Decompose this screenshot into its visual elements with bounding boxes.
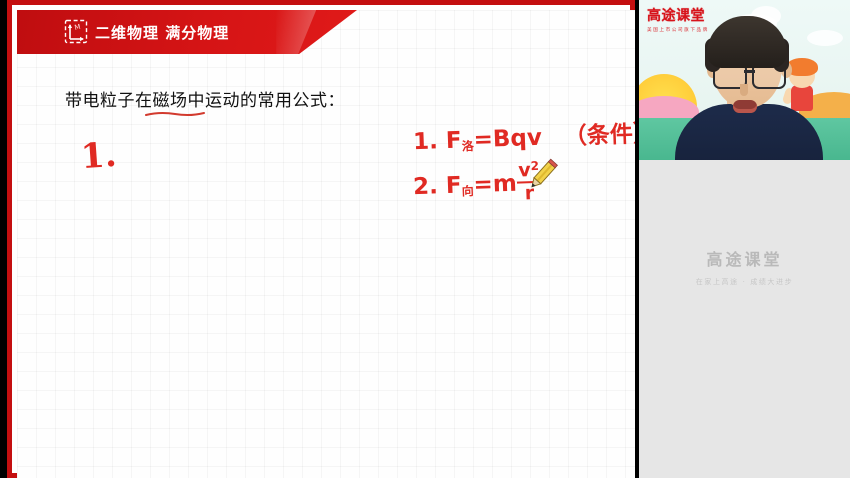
video-brand-subtitle: 美国上市公司旗下品牌 <box>647 27 709 33</box>
cloud-icon <box>807 30 843 46</box>
axes-rectangle-icon: M <box>64 19 88 44</box>
ink-line2-symbol: F <box>445 173 462 200</box>
ink-line1-symbol: F <box>445 128 462 155</box>
eyeglasses-bridge <box>744 70 755 73</box>
watermark-subtitle: 在家上高途 · 成绩大进步 <box>639 277 850 287</box>
presenter-nose <box>740 84 748 96</box>
pencil-cursor-icon[interactable] <box>521 156 561 196</box>
video-brand-title: 高途课堂 <box>647 5 709 25</box>
ink-line1-note: （条件） <box>563 121 635 150</box>
whiteboard-grid <box>17 10 635 478</box>
video-brand-logo: 高途课堂 美国上市公司旗下品牌 <box>647 5 709 33</box>
ink-line2-coefficient: m <box>492 171 517 198</box>
app-window: M 二维物理 满分物理 带电粒子在磁场中运动的常用公式： 1. 1. F洛=Bq… <box>0 0 850 478</box>
slide-heading: 带电粒子在磁场中运动的常用公式： <box>65 86 345 111</box>
video-sidebar: 高途课堂 美国上市公司旗下品牌 高途课堂 在家上高途 · 成绩大进步 <box>639 0 850 478</box>
ink-line2-subscript: 向 <box>462 184 474 198</box>
ink-left-marker: 1. <box>80 135 118 177</box>
presenter-video-tile[interactable]: 高途课堂 美国上市公司旗下品牌 <box>639 0 850 160</box>
presenter-mouth <box>733 100 757 113</box>
ink-line1-expression: Bqv <box>492 125 542 153</box>
mascot-body <box>791 85 813 111</box>
ink-line1-subscript: 洛 <box>462 139 474 153</box>
slide-panel: M 二维物理 满分物理 带电粒子在磁场中运动的常用公式： 1. 1. F洛=Bq… <box>7 0 635 478</box>
whiteboard-canvas[interactable]: M 二维物理 满分物理 带电粒子在磁场中运动的常用公式： 1. 1. F洛=Bq… <box>17 10 635 478</box>
ink-line2-index: 2. <box>413 173 439 200</box>
banner-title: 二维物理 满分物理 <box>95 22 229 43</box>
ink-line1-index: 1. <box>413 128 439 155</box>
svg-text:M: M <box>74 23 82 32</box>
watermark-title: 高途课堂 <box>639 246 850 270</box>
ink-line1-equals: = <box>473 126 493 153</box>
watermark: 高途课堂 在家上高途 · 成绩大进步 <box>639 246 850 287</box>
heading-underline <box>145 110 205 118</box>
slide-frame: M 二维物理 满分物理 带电粒子在磁场中运动的常用公式： 1. 1. F洛=Bq… <box>7 0 635 478</box>
ink-line2-equals: = <box>473 171 493 198</box>
